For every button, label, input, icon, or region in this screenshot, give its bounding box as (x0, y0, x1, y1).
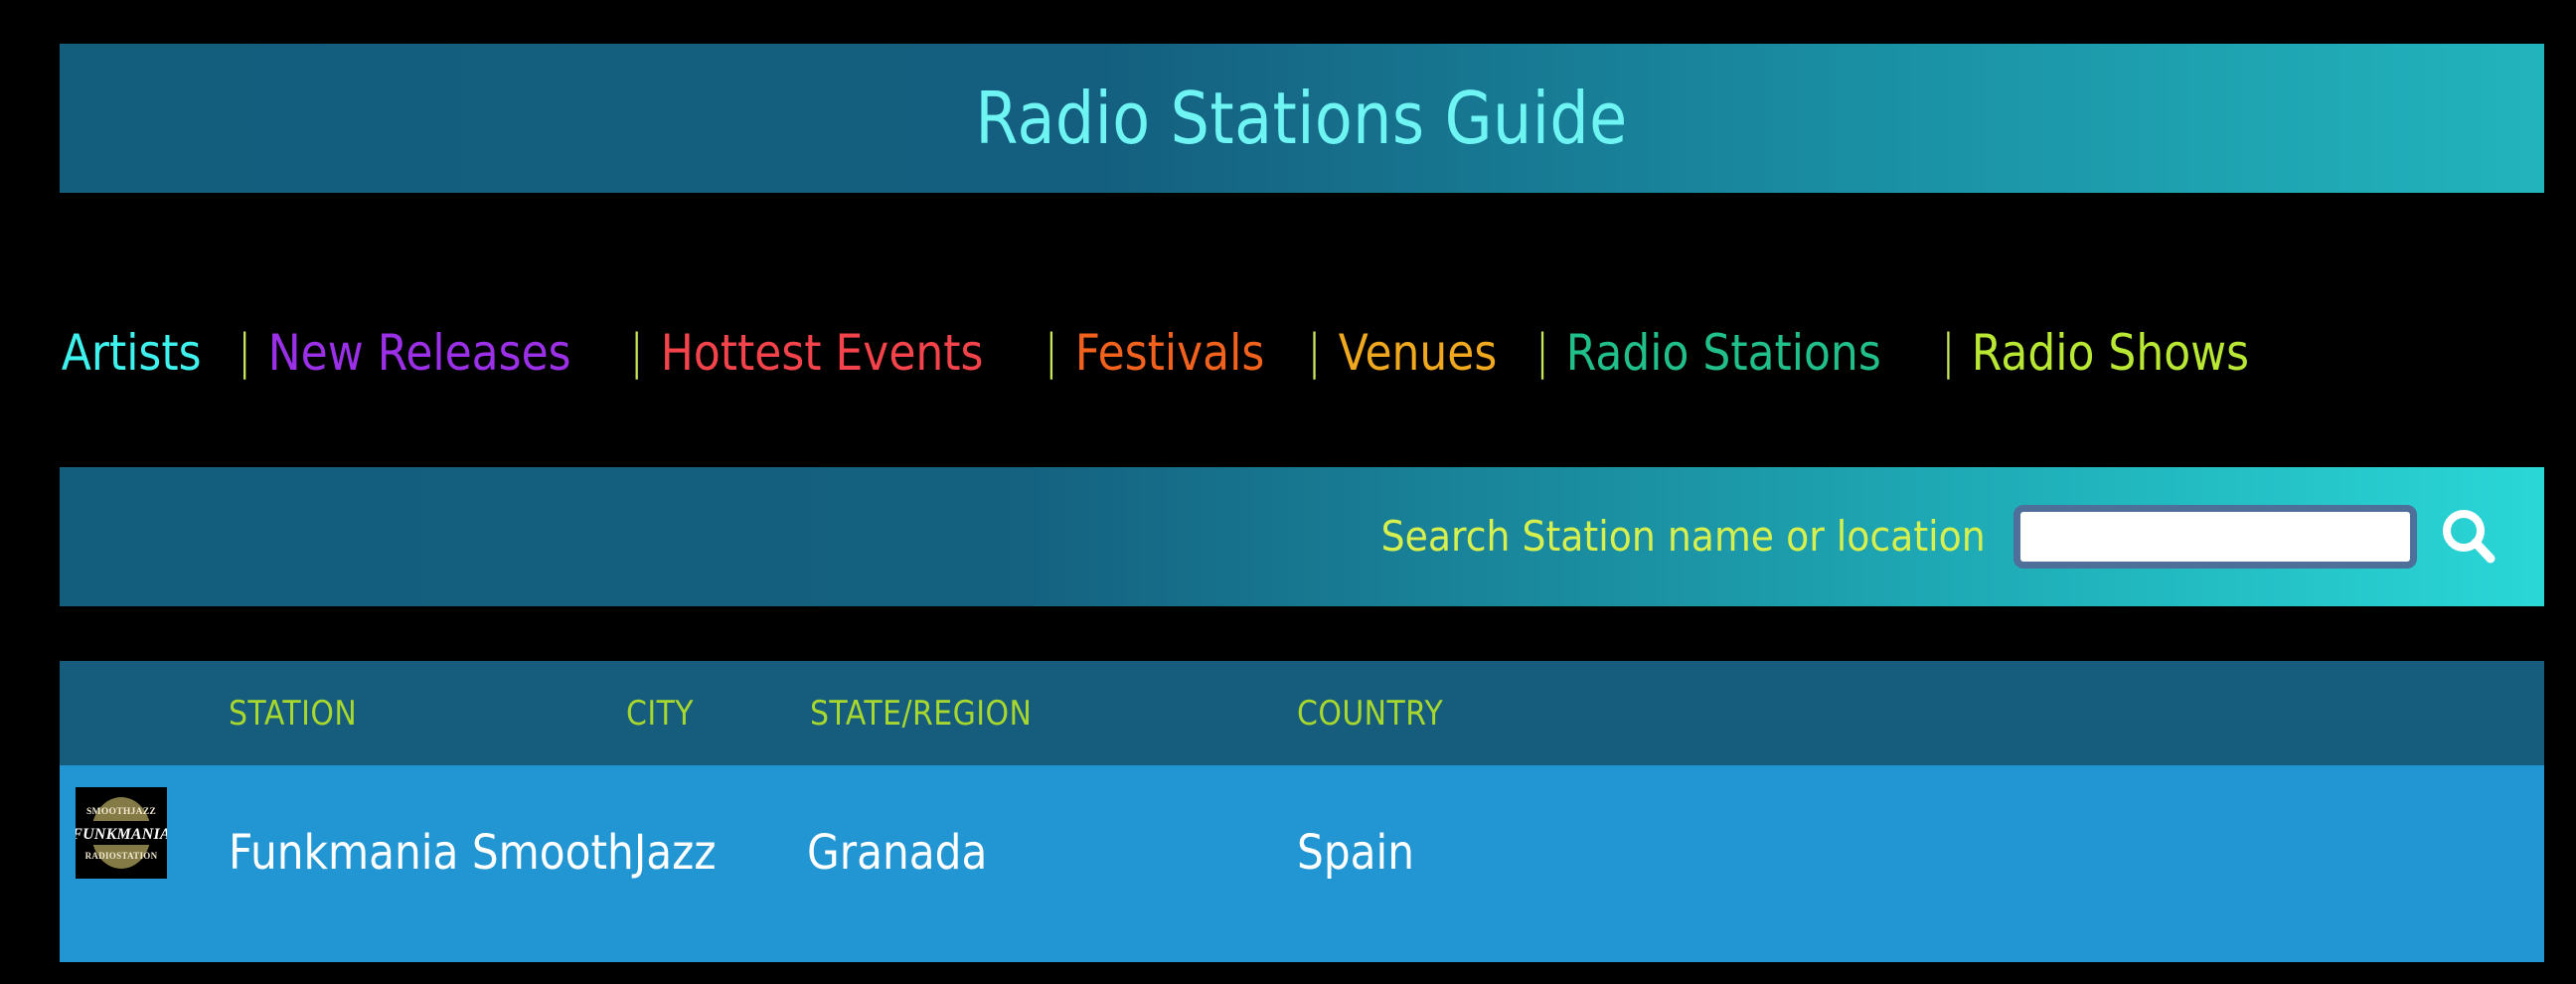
svg-text:RADIOSTATION: RADIOSTATION (85, 851, 158, 861)
nav-item-artists[interactable]: Artists (60, 328, 203, 378)
nav-item-new-releases[interactable]: New Releases (266, 328, 572, 378)
column-header-station[interactable]: STATION (229, 697, 357, 731)
nav-item-radio-shows[interactable]: Radio Shows (1970, 328, 2251, 378)
cell-station-name: Funkmania SmoothJazz (229, 829, 717, 877)
search-label: Search Station name or location (1381, 516, 1986, 558)
nav-separator: | (1940, 328, 1956, 376)
nav-separator: | (1306, 328, 1322, 376)
search-button[interactable] (2431, 498, 2508, 575)
nav-separator: | (1044, 328, 1059, 376)
nav-separator: | (237, 328, 252, 376)
column-header-country[interactable]: COUNTRY (1297, 697, 1443, 731)
svg-text:FUNKMANIA: FUNKMANIA (76, 826, 167, 843)
svg-text:SMOOTHJAZZ: SMOOTHJAZZ (86, 807, 156, 817)
search-icon (2439, 506, 2500, 568)
nav-item-festivals[interactable]: Festivals (1073, 328, 1266, 378)
page-title: Radio Stations Guide (976, 82, 1628, 154)
column-header-state-region[interactable]: STATE/REGION (810, 697, 1032, 731)
main-navigation: Artists | New Releases | Hottest Events … (60, 308, 2544, 398)
station-logo[interactable]: SMOOTHJAZZ FUNKMANIA RADIOSTATION (76, 787, 167, 879)
cell-country: Spain (1297, 829, 1414, 877)
column-header-city[interactable]: CITY (626, 697, 694, 731)
nav-item-venues[interactable]: Venues (1337, 328, 1499, 378)
table-header-row: STATION CITY STATE/REGION COUNTRY (60, 661, 2544, 765)
nav-item-hottest-events[interactable]: Hottest Events (659, 328, 985, 378)
table-row[interactable]: SMOOTHJAZZ FUNKMANIA RADIOSTATION Funkma… (60, 765, 2544, 962)
search-bar: Search Station name or location (60, 467, 2544, 606)
nav-separator: | (629, 328, 645, 376)
stations-table: STATION CITY STATE/REGION COUNTRY SMOOTH… (60, 661, 2544, 962)
page-root: Radio Stations Guide Artists | New Relea… (0, 0, 2576, 984)
nav-separator: | (1534, 328, 1550, 376)
search-input[interactable] (2013, 505, 2417, 569)
cell-state-region: Granada (807, 829, 987, 877)
nav-item-radio-stations[interactable]: Radio Stations (1564, 328, 1883, 378)
header-banner: Radio Stations Guide (60, 44, 2544, 193)
